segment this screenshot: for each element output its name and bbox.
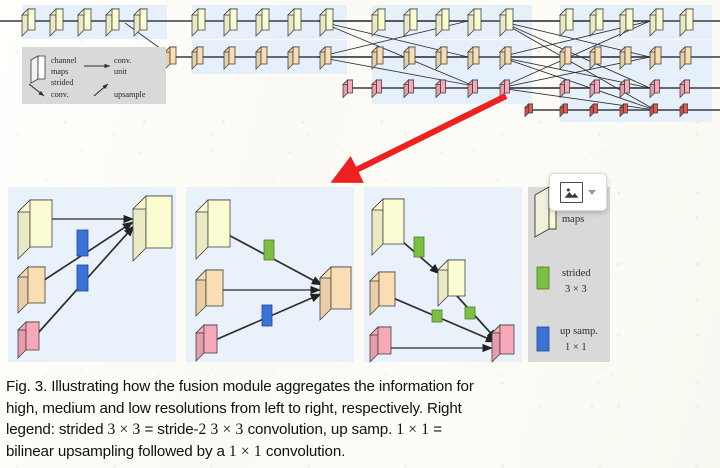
panel3-strided-block-2	[465, 307, 475, 319]
panel2-strided-block	[264, 240, 274, 260]
legend-upsample-block-icon	[537, 327, 549, 351]
legend2-strided-label1: strided	[562, 268, 591, 279]
panel1-upsample-block-2	[77, 265, 88, 291]
legend2-strided-label2: 3 × 3	[565, 284, 587, 295]
caption-line-3: legend: strided 3 × 3 = stride-2 3 × 3 c…	[6, 419, 546, 441]
caption-line-1: Fig. 3. Illustrating how the fusion modu…	[6, 376, 546, 398]
legend2-channel-label2: maps	[562, 214, 584, 225]
caption-line-2: high, medium and low resolutions from le…	[6, 398, 546, 420]
caption-line-4: bilinear upsampling followed by a 1 × 1 …	[6, 441, 546, 463]
red-arrow-line	[338, 96, 506, 179]
legend-strided-block-icon	[537, 267, 549, 289]
figure-caption: Fig. 3. Illustrating how the fusion modu…	[6, 376, 546, 462]
image-placeholder-dropdown[interactable]	[549, 173, 607, 211]
panel3-strided-block-1	[414, 237, 424, 257]
image-icon[interactable]	[560, 182, 583, 203]
fusion-module-panels: channel maps strided 3 × 3 up samp. 1 × …	[0, 182, 720, 377]
panel2-upsample-block	[262, 305, 272, 326]
legend2-upsamp-label1: up samp.	[560, 326, 598, 337]
legend2-upsamp-label2: 1 × 1	[565, 342, 587, 353]
panel1-upsample-block-1	[77, 230, 88, 256]
panel3-strided-block-3	[432, 310, 442, 322]
chevron-down-icon[interactable]	[588, 190, 596, 195]
